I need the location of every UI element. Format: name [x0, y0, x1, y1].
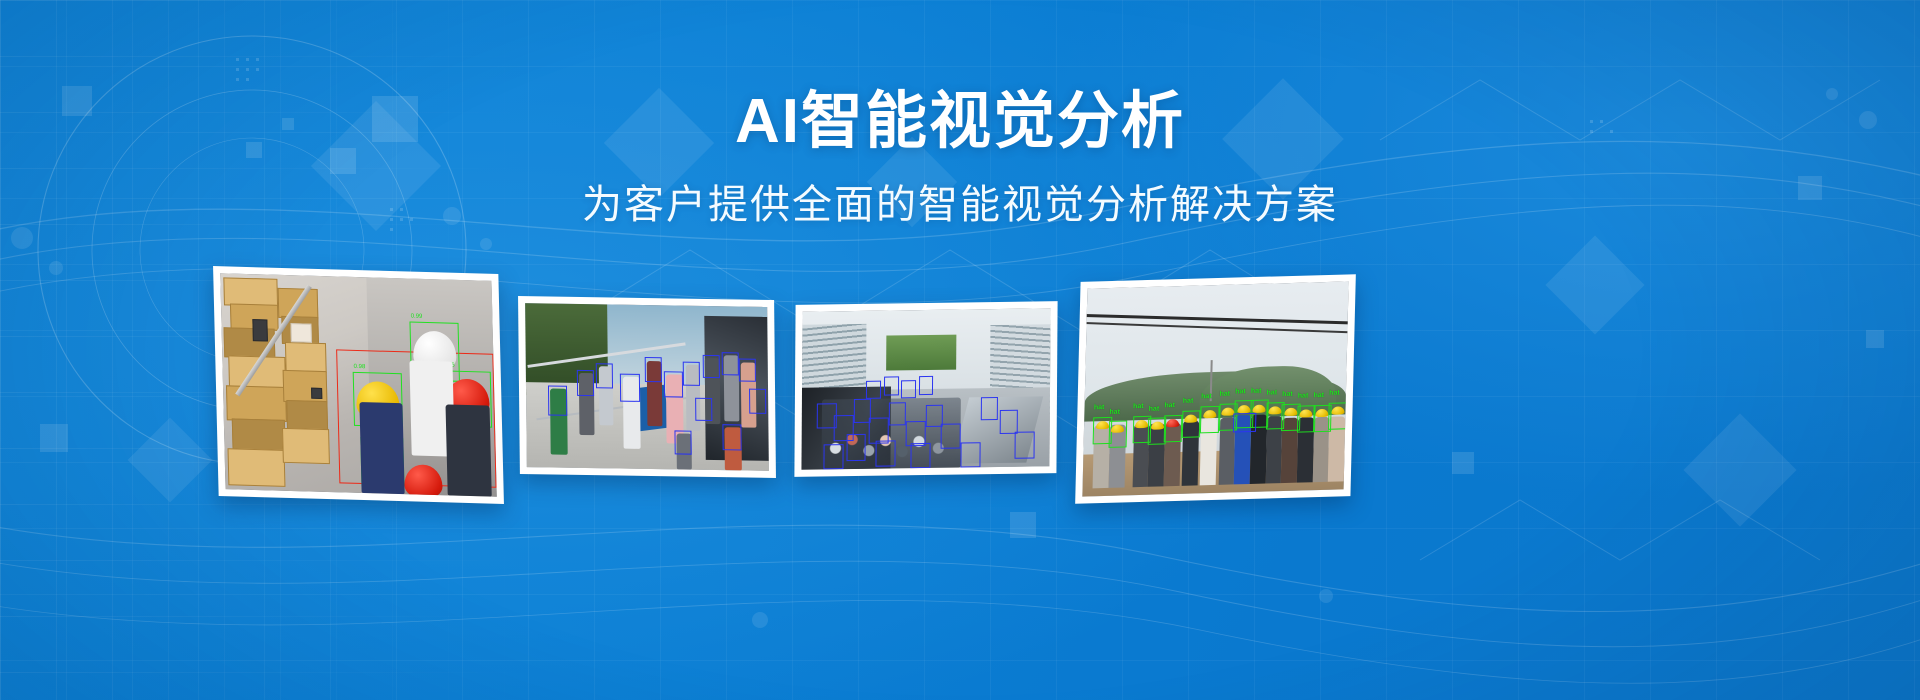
- detection-box: [620, 373, 640, 401]
- detection-box: [824, 444, 844, 470]
- detection-box: [884, 377, 899, 396]
- detection-label: hat: [1251, 388, 1262, 395]
- detection-label: hat: [1183, 398, 1194, 405]
- detection-label: hat: [1109, 408, 1120, 415]
- detection-box: [1328, 402, 1347, 430]
- detection-label: hat: [1094, 405, 1105, 412]
- detection-box: [866, 380, 881, 399]
- detection-box: [1109, 421, 1128, 449]
- detection-label: hat: [1235, 388, 1246, 395]
- showcase-photo-platform-crowd-density[interactable]: [794, 301, 1057, 477]
- showcase-photo-warehouse-helmet-detection[interactable]: 0.99 0.98 0.96 0.95: [213, 266, 504, 504]
- detection-box: [722, 352, 739, 375]
- detection-box: [548, 385, 568, 415]
- detection-box: [722, 424, 742, 451]
- ai-vision-hero-banner: AI智能视觉分析 为客户提供全面的智能视觉分析解决方案: [0, 0, 1920, 700]
- detection-box: [577, 369, 594, 395]
- detection-box: [889, 402, 907, 426]
- detection-box: [911, 443, 931, 469]
- page-title: AI智能视觉分析: [0, 88, 1920, 156]
- detection-box: [702, 355, 719, 378]
- detection-label: hat: [1298, 393, 1309, 400]
- detection-box: [674, 430, 691, 455]
- detection-label: hat: [1282, 391, 1293, 398]
- detection-label: hat: [1219, 391, 1230, 398]
- detection-label: hat: [1201, 393, 1212, 400]
- greenery: [886, 335, 956, 371]
- detection-box: [1015, 432, 1035, 459]
- detection-box: [940, 423, 960, 449]
- detection-box: [980, 397, 998, 419]
- detection-box: [1000, 410, 1018, 434]
- detection-label: hat: [1133, 403, 1144, 410]
- photo-3-content: [801, 308, 1050, 469]
- detection-label: 0.99: [411, 314, 423, 320]
- showcase-photo-outdoor-hardhat-detection[interactable]: hat hat hat hat hat hat hat: [1075, 274, 1356, 504]
- detection-label: hat: [1313, 392, 1324, 399]
- detection-label: hat: [1266, 389, 1277, 396]
- detection-box: [1200, 406, 1219, 434]
- detection-box: [749, 389, 766, 414]
- detection-box: [901, 380, 916, 399]
- person: [359, 402, 405, 494]
- page-subtitle: 为客户提供全面的智能视觉分析解决方案: [0, 182, 1920, 228]
- detection-box: [1164, 415, 1183, 443]
- detection-box: [1182, 410, 1201, 438]
- detection-box: [919, 376, 934, 395]
- photo-1-content: 0.99 0.98 0.96 0.95: [220, 273, 497, 497]
- showcase-photo-footbridge-crowd-detection[interactable]: [518, 296, 776, 478]
- detection-label: hat: [1164, 403, 1175, 410]
- detection-label: 0.98: [354, 364, 366, 370]
- detection-box: [644, 357, 661, 382]
- detection-box: [683, 361, 700, 386]
- detection-box: [664, 371, 684, 398]
- detection-box: [960, 442, 980, 468]
- photo-2-content: [525, 303, 769, 471]
- detection-label: hat: [1149, 405, 1160, 412]
- detection-box: [596, 363, 613, 388]
- detection-box: [739, 359, 756, 382]
- photo-4-content: hat hat hat hat hat hat hat: [1082, 281, 1348, 496]
- detection-label: hat: [1329, 390, 1340, 397]
- detection-box: [696, 398, 713, 421]
- hero-text-block: AI智能视觉分析 为客户提供全面的智能视觉分析解决方案: [0, 0, 1920, 228]
- detection-box: [876, 440, 896, 467]
- detection-box: [846, 434, 866, 461]
- detection-box-person: [1233, 413, 1257, 432]
- person: [446, 405, 492, 497]
- showcase-photo-strip: 0.99 0.98 0.96 0.95: [0, 258, 1920, 528]
